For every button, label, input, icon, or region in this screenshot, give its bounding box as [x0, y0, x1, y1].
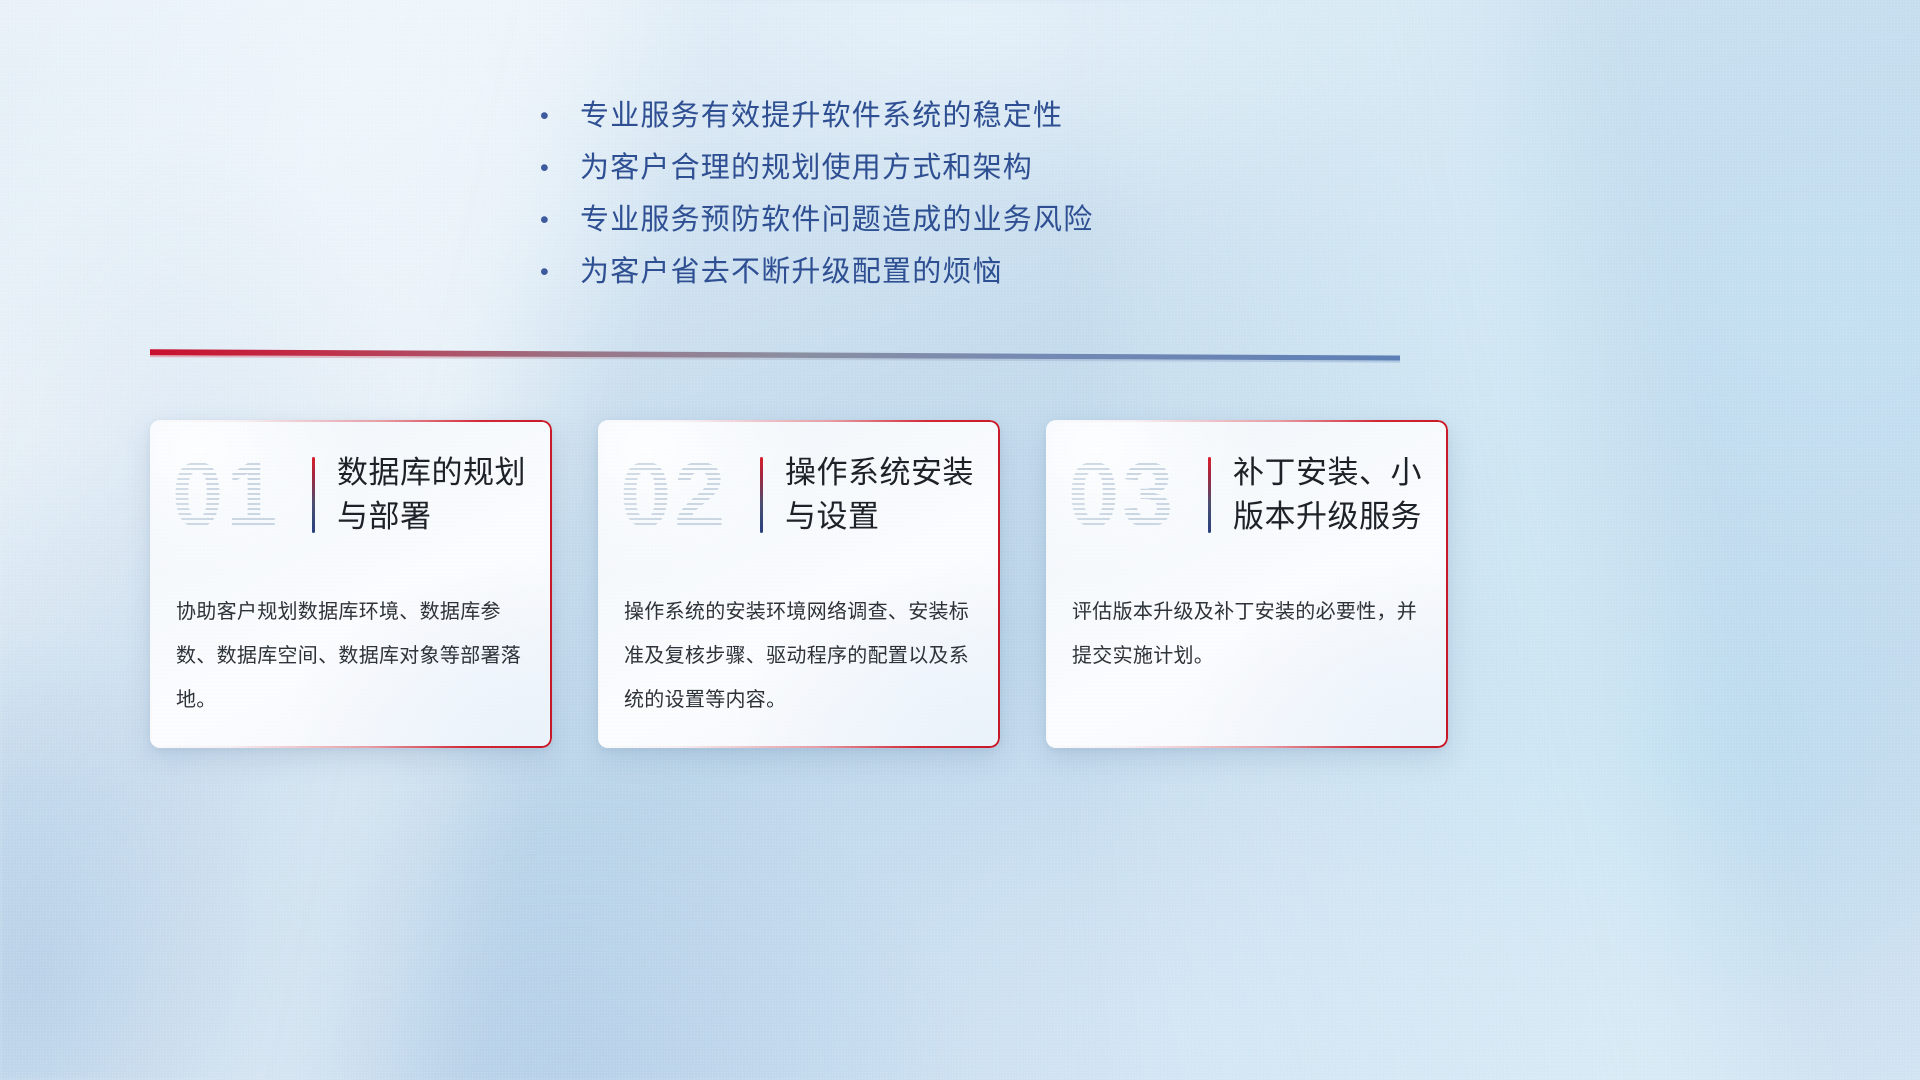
bullet-list: • 专业服务有效提升软件系统的稳定性 • 为客户合理的规划使用方式和架构 • 专… [540, 90, 1440, 298]
bullet-item: • 为客户省去不断升级配置的烦恼 [540, 246, 1440, 298]
card-title: 补丁安装、小版本升级服务 [1233, 451, 1443, 539]
card-title: 数据库的规划与部署 [337, 451, 547, 539]
feature-card-row: 01 数据库的规划与部署 协助客户规划数据库环境、数据库参数、数据库空间、数据库… [150, 420, 1450, 750]
feature-card[interactable]: 01 数据库的规划与部署 协助客户规划数据库环境、数据库参数、数据库空间、数据库… [150, 420, 552, 748]
bullet-dot-icon: • [540, 194, 580, 246]
card-divider-rule [760, 457, 763, 533]
card-title: 操作系统安装与设置 [785, 451, 995, 539]
section-divider [150, 348, 1400, 366]
card-body-text: 操作系统的安装环境网络调查、安装标准及复核步骤、驱动程序的配置以及系统的设置等内… [598, 570, 1000, 722]
card-divider-rule [1208, 457, 1211, 533]
card-index-number: 01 [172, 440, 308, 550]
bullet-item: • 专业服务预防软件问题造成的业务风险 [540, 194, 1440, 246]
card-header: 02 操作系统安装与设置 [598, 420, 1000, 570]
bullet-item-label: 专业服务有效提升软件系统的稳定性 [580, 90, 1063, 142]
card-index-number: 03 [1068, 440, 1204, 550]
feature-card[interactable]: 03 补丁安装、小版本升级服务 评估版本升级及补丁安装的必要性，并提交实施计划。 [1046, 420, 1448, 748]
card-header: 01 数据库的规划与部署 [150, 420, 552, 570]
card-body-text: 协助客户规划数据库环境、数据库参数、数据库空间、数据库对象等部署落地。 [150, 570, 552, 722]
divider-line-shape [150, 348, 1400, 366]
bullet-item-label: 为客户合理的规划使用方式和架构 [580, 142, 1033, 194]
bullet-item-label: 为客户省去不断升级配置的烦恼 [580, 246, 1003, 298]
bullet-item: • 专业服务有效提升软件系统的稳定性 [540, 90, 1440, 142]
bullet-item-label: 专业服务预防软件问题造成的业务风险 [580, 194, 1093, 246]
bullet-dot-icon: • [540, 90, 580, 142]
card-header: 03 补丁安装、小版本升级服务 [1046, 420, 1448, 570]
bullet-dot-icon: • [540, 246, 580, 298]
card-index-number: 02 [620, 440, 756, 550]
card-body-text: 评估版本升级及补丁安装的必要性，并提交实施计划。 [1046, 570, 1448, 678]
feature-card[interactable]: 02 操作系统安装与设置 操作系统的安装环境网络调查、安装标准及复核步骤、驱动程… [598, 420, 1000, 748]
card-divider-rule [312, 457, 315, 533]
bullet-dot-icon: • [540, 142, 580, 194]
bullet-item: • 为客户合理的规划使用方式和架构 [540, 142, 1440, 194]
